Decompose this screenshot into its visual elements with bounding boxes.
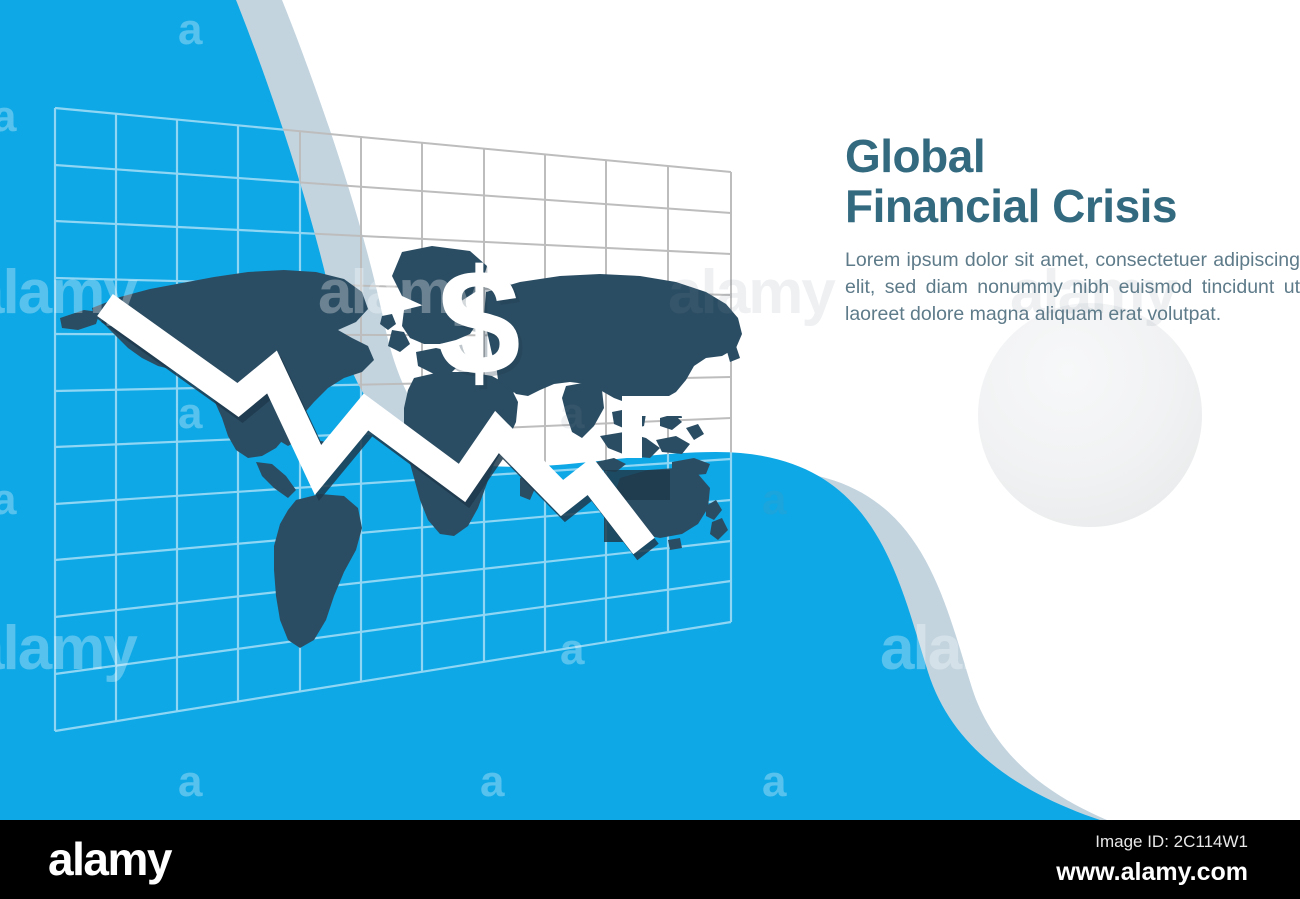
poster-canvas: $ $ a a a alamy alamy alamy alamy a a a … [0, 0, 1300, 899]
svg-text:$: $ [437, 238, 520, 406]
alamy-url: www.alamy.com [988, 858, 1248, 887]
arrowhead-icon [622, 396, 684, 458]
image-id-label: Image ID: 2C114W1 [988, 832, 1248, 852]
text-content-block: Global Financial Crisis Lorem ipsum dolo… [845, 132, 1265, 328]
downward-trend-arrow [105, 305, 644, 546]
page-title: Global Financial Crisis [845, 132, 1265, 231]
alamy-footer-bar: alamy Image ID: 2C114W1 www.alamy.com [0, 820, 1300, 899]
alamy-logo: alamy [48, 832, 171, 886]
dollar-sign-icon: $ $ [437, 238, 524, 410]
body-paragraph: Lorem ipsum dolor sit amet, consectetuer… [845, 247, 1300, 328]
